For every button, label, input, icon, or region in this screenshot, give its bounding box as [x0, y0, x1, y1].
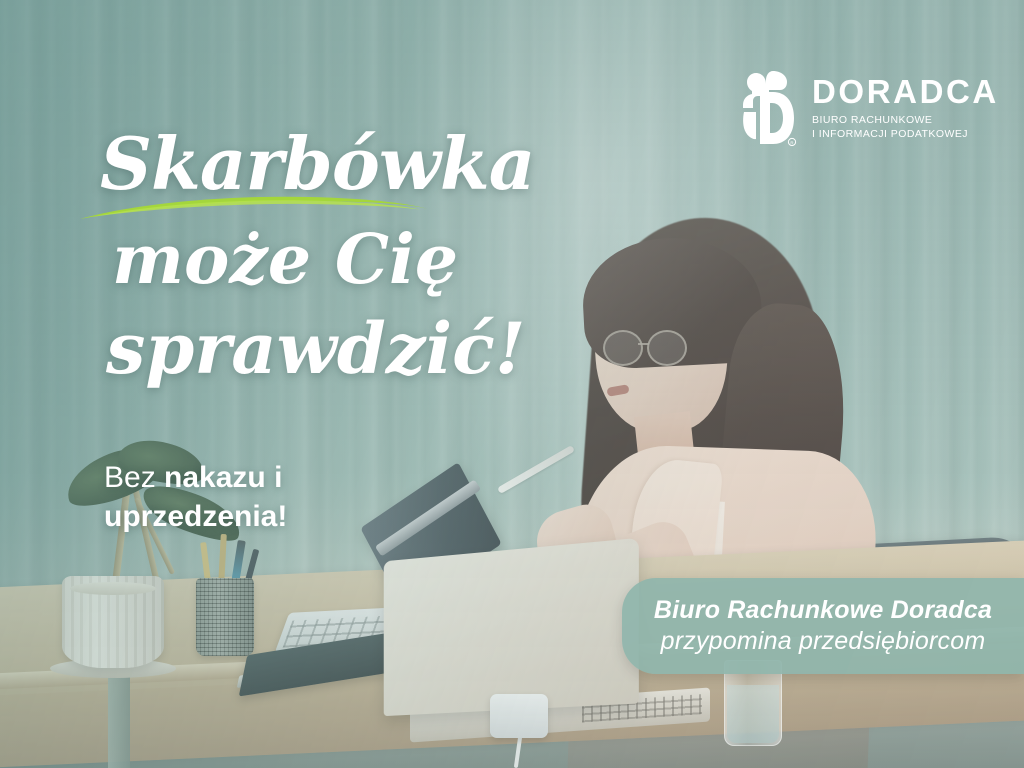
caption-line-2: przypomina przedsiębiorcom [661, 626, 986, 657]
logo-tagline-line-2: I INFORMACJI PODATKOWEJ [812, 128, 999, 142]
water [727, 685, 779, 743]
pot-soil [70, 582, 156, 595]
page-title: Skarbówka może Cię sprawdzić! [100, 128, 620, 384]
headline-line-1: Skarbówka [100, 128, 620, 200]
doradca-owl-d-monogram-icon: R [736, 68, 798, 148]
subheadline-regular: Bez [104, 461, 164, 494]
brand-logo: R DORADCA BIURO RACHUNKOWE I INFORMACJI … [736, 66, 968, 150]
logo-tagline-line-1: BIURO RACHUNKOWE [812, 114, 999, 128]
plant-pot [62, 576, 164, 668]
poster-canvas: Skarbówka może Cię sprawdzić! Bez nakazu… [0, 0, 1024, 768]
pen-cup [196, 578, 254, 656]
pen-cup-mesh [196, 578, 254, 656]
caption-line-1: Biuro Rachunkowe Doradca [654, 595, 992, 626]
laptop-lid [384, 538, 639, 716]
subheadline: Bez nakazu i uprzedzenia! [104, 458, 464, 536]
logo-text-block: DORADCA BIURO RACHUNKOWE I INFORMACJI PO… [812, 75, 999, 142]
caption-box: Biuro Rachunkowe Doradca przypomina prze… [622, 578, 1024, 674]
phone-dock [490, 694, 548, 738]
svg-text:R: R [790, 140, 793, 145]
glasses-bridge [638, 343, 649, 345]
headline-line-3: sprawdzić! [106, 314, 620, 384]
lens-right [647, 330, 687, 366]
logo-tagline: BIURO RACHUNKOWE I INFORMACJI PODATKOWEJ [812, 114, 999, 142]
logo-name: DORADCA [812, 75, 999, 108]
headline-line-2: może Cię [112, 226, 620, 294]
